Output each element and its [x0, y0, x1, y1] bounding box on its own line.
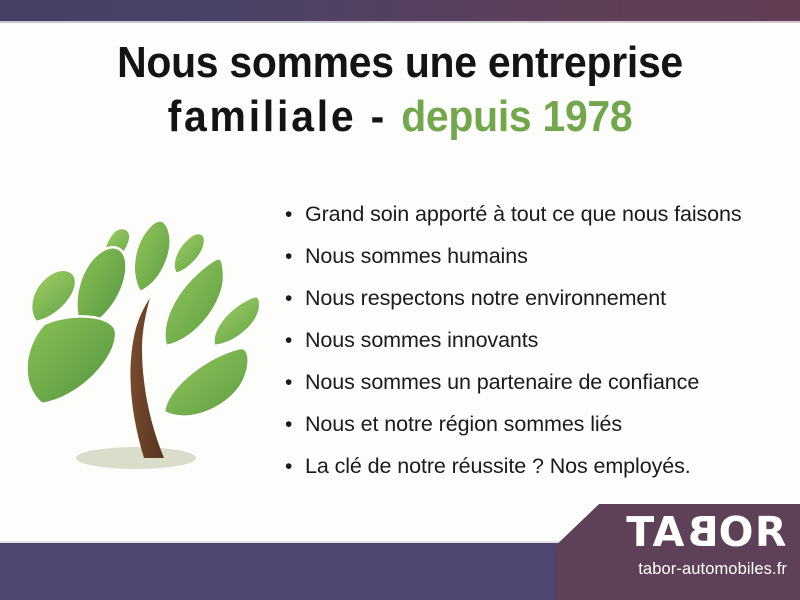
list-item: • Nous et notre région sommes liés	[285, 403, 785, 445]
tree-leaf-2	[134, 220, 171, 292]
top-accent-bar-hairline	[0, 21, 800, 23]
bullet-marker-icon: •	[285, 362, 305, 404]
list-item: • Nous respectons notre environnement	[285, 277, 785, 319]
headline-accent-year: depuis 1978	[401, 92, 632, 141]
list-item-label: La clé de notre réussite ? Nos employés.	[305, 445, 691, 487]
headline-line-2: familiale - depuis 1978	[28, 90, 772, 144]
list-item-label: Grand soin apporté à tout ce que nous fa…	[305, 193, 742, 235]
tree-illustration	[18, 196, 268, 488]
list-item-label: Nous sommes humains	[305, 235, 528, 277]
headline-line-2-plain: familiale -	[168, 92, 402, 141]
list-item: • Nous sommes humains	[285, 235, 785, 277]
tree-ground-shadow	[76, 447, 196, 469]
bullet-marker-icon: •	[285, 194, 305, 236]
bullet-marker-icon: •	[285, 278, 305, 320]
bullet-marker-icon: •	[285, 404, 305, 446]
list-item: • Grand soin apporté à tout ce que nous …	[285, 193, 785, 235]
slide-headline: Nous sommes une entreprise familiale - d…	[28, 36, 772, 144]
brand-website-url: tabor-automobiles.fr	[638, 561, 787, 578]
brand-logo-panel: TABOR tabor-automobiles.fr	[555, 504, 800, 600]
list-item: • Nous sommes un partenaire de confiance	[285, 361, 785, 403]
brand-wordmark-post: OR	[719, 508, 788, 556]
tree-leaf-9	[164, 348, 249, 417]
tree-leaf-5	[31, 270, 76, 322]
list-item-label: Nous respectons notre environnement	[305, 277, 666, 319]
list-item-label: Nous et notre région sommes liés	[305, 403, 622, 445]
brand-wordmark-pre: TA	[626, 508, 686, 556]
top-accent-bar	[0, 0, 800, 21]
list-item: • La clé de notre réussite ? Nos employé…	[285, 445, 785, 487]
tree-leaf-8	[26, 316, 116, 404]
tree-trunk	[130, 298, 164, 458]
tree-leaf-3	[174, 233, 205, 274]
bullet-marker-icon: •	[285, 320, 305, 362]
tree-leaf-7	[213, 296, 260, 346]
headline-line-1: Nous sommes une entreprise	[28, 36, 772, 90]
bullet-marker-icon: •	[285, 446, 305, 488]
tree-icon	[18, 196, 268, 488]
list-item-label: Nous sommes innovants	[305, 319, 538, 361]
value-bullet-list: • Grand soin apporté à tout ce que nous …	[285, 193, 785, 487]
list-item: • Nous sommes innovants	[285, 319, 785, 361]
bullet-marker-icon: •	[285, 236, 305, 278]
brand-wordmark: TABOR	[626, 512, 788, 553]
list-item-label: Nous sommes un partenaire de confiance	[305, 361, 699, 403]
brand-wordmark-mirrored-b: B	[686, 512, 719, 553]
slide-canvas: Nous sommes une entreprise familiale - d…	[0, 0, 800, 600]
